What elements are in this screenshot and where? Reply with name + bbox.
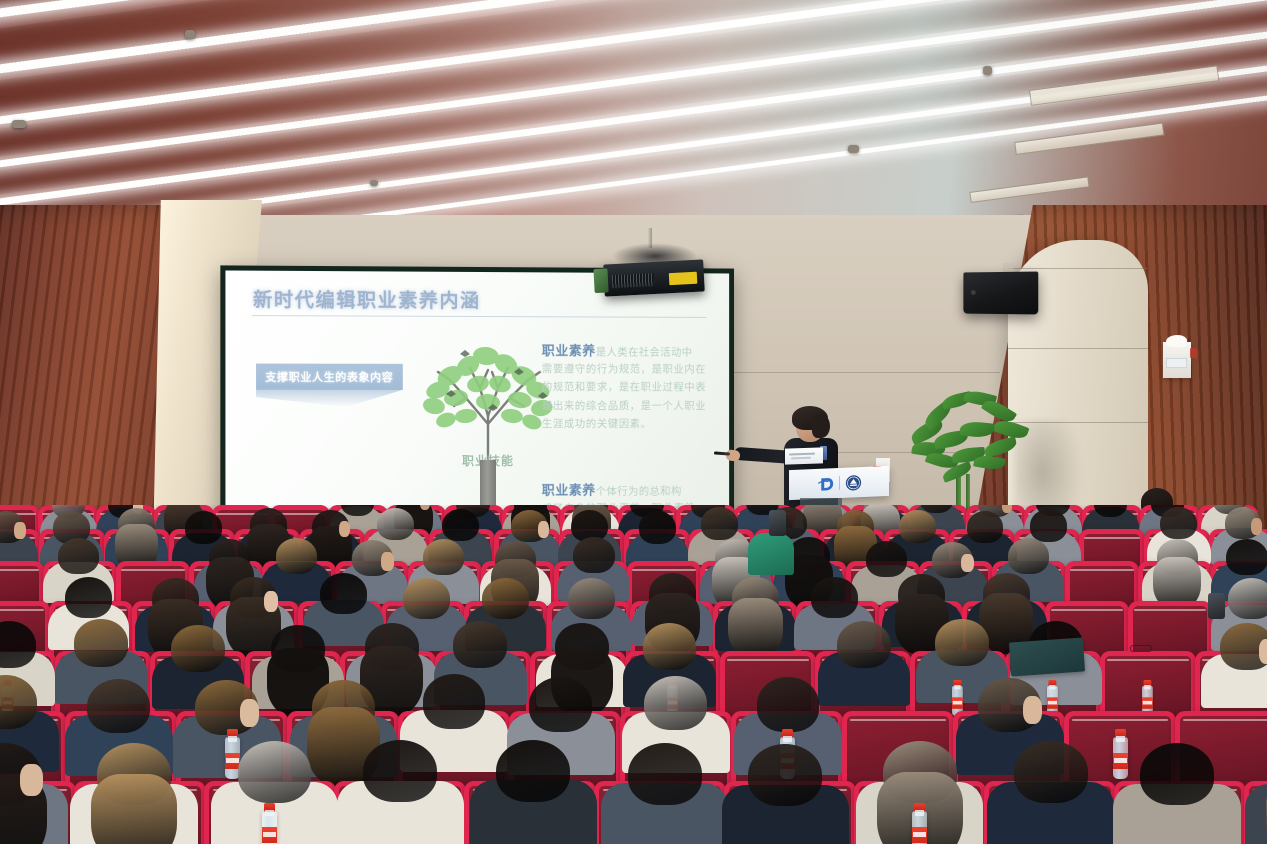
audience-member-face: [1251, 518, 1262, 535]
audience-member-face: [538, 521, 549, 538]
bottle-label: [912, 827, 927, 843]
audience-member-head: [482, 578, 529, 619]
body1-lead: 职业素养: [542, 343, 596, 358]
smartphone[interactable]: [1208, 593, 1225, 619]
ceiling-fixture: [370, 180, 378, 186]
seat-trim-line: [850, 719, 946, 721]
audience-member-head: [529, 677, 592, 732]
slide-title-rule: [252, 315, 707, 318]
water-bottle: [912, 811, 927, 844]
ceiling-fixture: [12, 120, 26, 128]
audience-member-head: [74, 619, 128, 666]
audience-member-head: [1160, 507, 1197, 539]
audience-member-face: [14, 522, 25, 539]
audience-member-head: [701, 507, 738, 539]
bottle-neck: [1049, 685, 1055, 689]
seat-trim-line: [1134, 609, 1206, 611]
bottle-neck: [1144, 685, 1150, 689]
wall-small-red-object: [1190, 348, 1197, 358]
audience-member-head: [748, 744, 822, 806]
presenter-hand: [725, 449, 740, 461]
body2-lead: 职业素养: [542, 483, 596, 498]
audience-member-head: [423, 539, 464, 575]
audience-member-head: [403, 578, 450, 619]
audience-member-head: [866, 541, 907, 577]
bottle-neck: [1116, 736, 1125, 742]
bottle-neck: [954, 685, 960, 689]
audience-member-head: [1140, 743, 1214, 805]
audience-member-head: [1014, 741, 1088, 803]
slide-callout-top: 支撑职业人生的表象内容: [256, 364, 402, 390]
seat-trim-line: [727, 659, 810, 661]
audience-member-face: [264, 591, 278, 612]
seat-trim-line: [1183, 719, 1267, 721]
conference-folder: [1009, 637, 1085, 676]
seat-trim-line: [1084, 537, 1141, 539]
audience-member-head: [442, 509, 479, 541]
audience-member-head: [899, 510, 936, 542]
presenter-hair-side: [812, 414, 830, 438]
audience-member-long-hair: [91, 774, 177, 844]
body1-rest: 是人类在社会活动中: [596, 346, 693, 358]
ceiling-recessed-panel: [969, 176, 1089, 203]
audience-member-head: [58, 538, 99, 574]
audience-member-face: [20, 764, 42, 796]
audience-member-head: [967, 511, 1004, 543]
wall-tissue-dispenser: [1163, 342, 1191, 378]
body1-line: 的规范和要求，是在职业过程中表: [542, 378, 724, 396]
bottle-label: [1142, 697, 1153, 709]
audience-member-head: [238, 741, 312, 803]
audience-member-head: [1226, 539, 1267, 575]
seat-trim-line: [1051, 609, 1123, 611]
bottle-neck: [783, 736, 792, 742]
audience-member-head: [1008, 538, 1049, 574]
slide-title: 新时代编辑职业素养内涵: [253, 285, 481, 313]
audience-member-head: [1228, 578, 1267, 619]
audience-member-face: [961, 554, 973, 573]
audience-member-head: [320, 573, 367, 614]
audience-member-face: [339, 521, 350, 538]
audience-member-head: [628, 743, 702, 805]
ceiling-fixture: [983, 66, 992, 75]
audience-member-shoulders: [1245, 784, 1267, 844]
audience-member-head: [496, 740, 570, 802]
audience-member-head: [644, 676, 707, 731]
audience-member-head: [171, 625, 225, 672]
audience-member-head: [757, 677, 820, 732]
conference-hall-photo: 新时代编辑职业素养内涵 支撑职业人生的表象内容 职业素养中最根本的部分: [0, 0, 1267, 844]
projector-vent: [612, 273, 655, 288]
body1-line: 需要遵守的行为规范，是职业内在: [542, 360, 724, 379]
audience-member-head: [1030, 509, 1067, 541]
smartphone[interactable]: [769, 510, 786, 536]
seat-trim-line: [632, 569, 696, 571]
audience-member-head: [935, 619, 989, 666]
audience-member-head: [639, 511, 676, 543]
audience-area: [0, 505, 1267, 844]
audience-member-head: [65, 577, 112, 618]
body1-line: 现出来的综合品质，是一个人职业: [542, 397, 724, 415]
audience-member-face: [1023, 696, 1042, 724]
audience-member-head: [276, 538, 317, 574]
audience-member-head: [87, 679, 150, 734]
audience-member-head: [573, 537, 614, 573]
water-bottle: [1113, 737, 1128, 779]
name-card: [785, 447, 823, 464]
bottle-label: [952, 697, 963, 709]
audience-member-green-jacket: [748, 533, 794, 575]
audience-member-head: [643, 623, 697, 670]
bottle-neck: [915, 810, 924, 816]
audience-member-face: [1259, 639, 1267, 664]
projector: [603, 259, 705, 296]
seat-trim-line: [1070, 569, 1134, 571]
bottle-neck: [265, 810, 274, 816]
audience-member-head: [423, 674, 486, 729]
audience-member-head: [377, 508, 414, 540]
projector-lens: [593, 268, 608, 293]
stylized-d-logo-icon: [817, 475, 834, 493]
speaker-grille-dot: [971, 290, 976, 295]
projector-label: [669, 272, 698, 285]
bottle-label: [1047, 697, 1058, 709]
bottle-label: [1113, 753, 1128, 769]
seat-trim-line: [0, 609, 44, 611]
audience-member-head: [185, 511, 222, 543]
body1-line: 生涯成功的关键因素。: [542, 415, 724, 433]
podium-front-panel: [789, 466, 889, 500]
audience-member-head: [568, 578, 615, 619]
logo-divider: [839, 476, 840, 490]
audience-member-head: [811, 577, 858, 618]
audience-member-face: [381, 552, 393, 571]
audience-member-long-hair: [728, 598, 783, 659]
seat-trim-line: [0, 569, 39, 571]
body2-rest: 个体行为的总和构: [596, 485, 682, 497]
ceiling-fixture: [185, 30, 195, 39]
audience-member-head: [363, 740, 437, 802]
audience-member-head: [453, 621, 507, 668]
bottle-neck: [228, 736, 237, 742]
seat-trim-line: [1107, 659, 1190, 661]
audience-member-head: [837, 621, 891, 668]
bottle-label: [262, 827, 277, 843]
eyeglasses: [1130, 645, 1152, 652]
seat-trim-line: [1072, 719, 1168, 721]
slide-body-block-1: 职业素养是人类在社会活动中 需要遵守的行为规范，是职业内在 的规范和要求，是在职…: [542, 340, 724, 433]
audience-member-face: [240, 699, 259, 727]
ceiling-fixture: [848, 145, 859, 153]
water-bottle: [262, 811, 277, 844]
loudspeaker: [963, 272, 1038, 315]
circular-emblem-logo-icon: [845, 474, 862, 492]
seat-trim-line: [121, 569, 185, 571]
